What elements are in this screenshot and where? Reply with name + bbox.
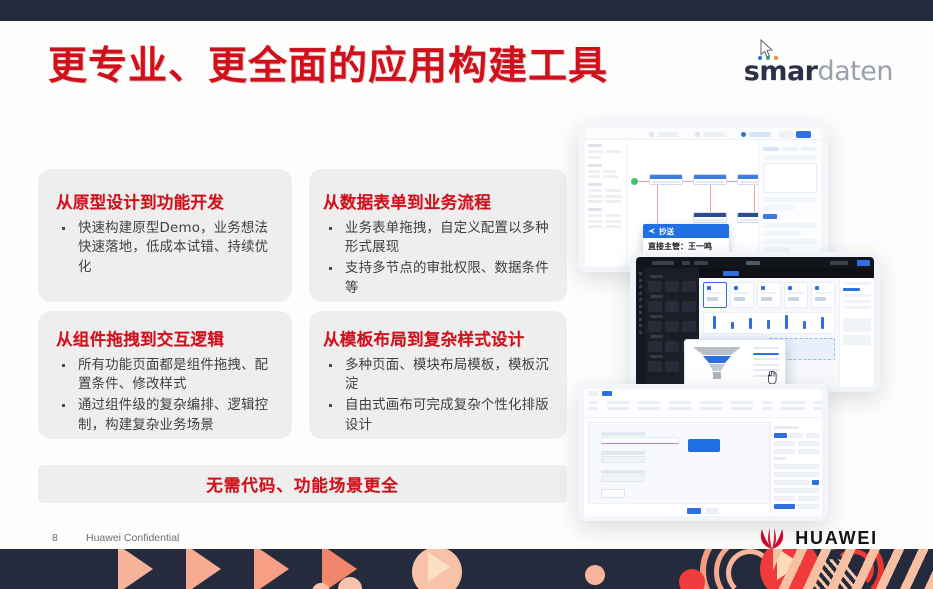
funnel-chart-preview[interactable] [684, 339, 786, 387]
feature-card-bullets: 所有功能页面都是组件拖拽、配置条件、修改样式 通过组件级的复杂编排、逻辑控制，构… [56, 356, 278, 436]
screenshot-flow-designer: 抄送 直接主管：王一鸣 [578, 122, 828, 272]
feature-card-title: 从组件拖拽到交互逻辑 [56, 332, 278, 349]
dashboard-icon-rail[interactable] [636, 268, 645, 387]
form-tab-bar[interactable] [584, 389, 612, 398]
funnel-icon [691, 345, 743, 381]
feature-card-layout: 从模板布局到复杂样式设计 多种页面、模块布局模板，模板沉淀 自由式画布可完成复杂… [309, 311, 567, 439]
send-icon [648, 227, 656, 235]
flow-tooltip-title: 抄送 [659, 226, 674, 237]
flow-top-steps [585, 128, 821, 140]
product-screenshot-collage: 抄送 直接主管：王一鸣 [565, 109, 905, 534]
kpi-card[interactable] [784, 282, 808, 308]
flow-node[interactable] [693, 174, 727, 185]
feature-card-component: 从组件拖拽到交互逻辑 所有功能页面都是组件拖拽、配置条件、修改样式 通过组件级的… [38, 311, 292, 439]
form-add-placeholder[interactable] [601, 489, 625, 498]
form-canvas[interactable] [588, 422, 770, 504]
form-field[interactable] [601, 432, 757, 444]
decorative-band [0, 549, 933, 589]
form-properties-panel[interactable] [770, 422, 822, 516]
feature-card-bullets: 多种页面、模块布局模板，模板沉淀 自由式画布可完成复杂个性化排版设计 [323, 356, 553, 436]
dashboard-kpi-row [703, 282, 835, 308]
feature-card-prototype: 从原型设计到功能开发 快速构建原型Demo，业务想法快速落地，低成本试错、持续优… [38, 169, 292, 302]
list-item: 自由式画布可完成复杂个性化排版设计 [323, 396, 553, 436]
kpi-card[interactable] [811, 282, 835, 308]
window-top-bar [0, 0, 933, 21]
kpi-card[interactable] [730, 282, 754, 308]
form-field[interactable] [601, 451, 757, 463]
smardaten-logo-light: daten [818, 56, 894, 87]
summary-banner: 无需代码、功能场景更全 [38, 465, 567, 503]
page-title: 更专业、更全面的应用构建工具 [48, 35, 608, 91]
feature-card-title: 从原型设计到功能开发 [56, 195, 278, 212]
screenshot-stage: 更专业、更全面的应用构建工具 smar daten 从原型设计到功能开发 快速构… [0, 0, 933, 589]
feature-card-bullets: 业务表单拖拽，自定义配置以多种形式展现 支持多节点的审批权限、数据条件等 [323, 219, 553, 299]
list-item: 所有功能页面都是组件拖拽、配置条件、修改样式 [56, 356, 278, 396]
form-field[interactable] [601, 470, 757, 482]
list-item: 快速构建原型Demo，业务想法快速落地，低成本试错、持续优化 [56, 219, 278, 278]
list-item: 通过组件级的复杂编排、逻辑控制，构建复杂业务场景 [56, 396, 278, 436]
flow-node[interactable] [649, 174, 683, 185]
summary-banner-text: 无需代码、功能场景更全 [206, 472, 399, 496]
mouse-cursor [760, 39, 774, 59]
form-toolbar[interactable] [584, 398, 822, 418]
list-item: 业务表单拖拽，自定义配置以多种形式展现 [323, 219, 553, 259]
smardaten-logo: smar daten [744, 57, 893, 87]
flow-tooltip-header: 抄送 [643, 224, 729, 238]
logo-dot-orange [774, 56, 778, 60]
kpi-card[interactable] [757, 282, 781, 308]
drag-cursor-icon [766, 370, 779, 385]
flow-properties-panel [758, 140, 821, 266]
dashboard-bar-chart[interactable] [703, 312, 835, 334]
screenshot-form-designer [578, 384, 828, 521]
feature-card-bullets: 快速构建原型Demo，业务想法快速落地，低成本试错、持续优化 [56, 219, 278, 278]
confidential-note: Huawei Confidential [86, 532, 179, 544]
presentation-slide: 更专业、更全面的应用构建工具 smar daten 从原型设计到功能开发 快速构… [0, 21, 933, 549]
screenshot-dashboard-builder [630, 252, 880, 392]
list-item: 多种页面、模块布局模板，模板沉淀 [323, 356, 553, 396]
dashboard-properties-panel[interactable] [839, 278, 874, 387]
feature-card-title: 从模板布局到复杂样式设计 [323, 332, 553, 349]
form-submit-button[interactable] [688, 439, 720, 452]
feature-card-title: 从数据表单到业务流程 [323, 195, 553, 212]
list-item: 支持多节点的审批权限、数据条件等 [323, 259, 553, 299]
page-number: 8 [52, 532, 58, 544]
diagonal-stripes [773, 549, 933, 589]
flow-node[interactable] [693, 212, 727, 223]
flow-left-panel [585, 140, 627, 266]
form-footer-actions[interactable] [584, 505, 822, 516]
kpi-card[interactable] [703, 282, 727, 308]
smardaten-logo-bold: smar [744, 56, 818, 87]
dashboard-titlebar [636, 257, 874, 268]
feature-card-dataform: 从数据表单到业务流程 业务表单拖拽，自定义配置以多种形式展现 支持多节点的审批权… [309, 169, 567, 302]
dashboard-toolbar [699, 268, 874, 278]
